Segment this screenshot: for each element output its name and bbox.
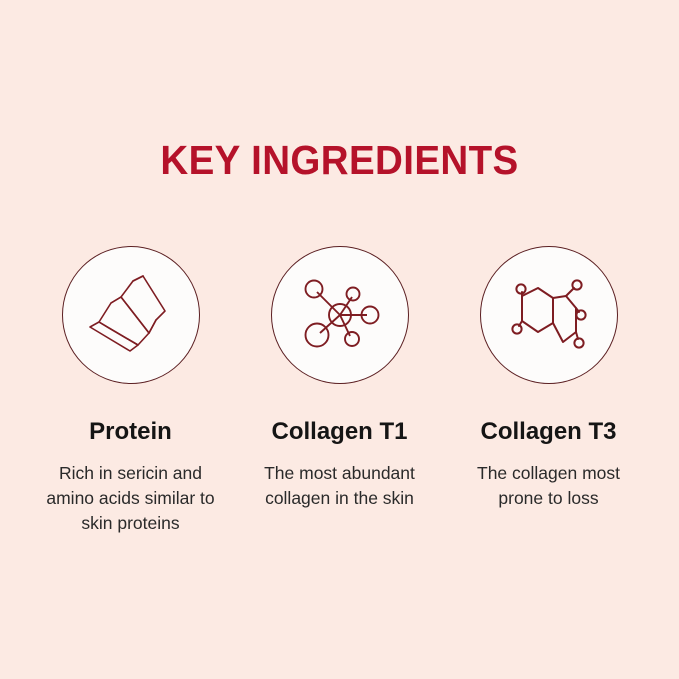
ingredient-card-collagen-t3: Collagen T3 The collagen most prone to l… — [444, 246, 653, 511]
ingredient-description: The collagen most prone to loss — [449, 461, 649, 511]
molecule-cluster-icon — [298, 273, 382, 357]
ingredient-card-protein: Protein Rich in sericin and amino acids … — [26, 246, 235, 536]
ingredient-card-collagen-t1: Collagen T1 The most abundant collagen i… — [235, 246, 444, 511]
description-line: collagen in the skin — [240, 486, 440, 511]
description-line: skin proteins — [31, 511, 231, 536]
ingredient-columns: Protein Rich in sericin and amino acids … — [0, 246, 679, 536]
ingredient-description: Rich in sericin and amino acids similar … — [31, 461, 231, 536]
page-title: KEY INGREDIENTS — [20, 136, 658, 184]
silk-ribbon-protein-icon — [86, 270, 176, 360]
icon-circle-collagen-t3 — [480, 246, 618, 384]
icon-circle-protein — [62, 246, 200, 384]
description-line: amino acids similar to — [31, 486, 231, 511]
ingredient-description: The most abundant collagen in the skin — [240, 461, 440, 511]
fused-hexagon-molecule-icon — [508, 274, 590, 356]
ingredient-heading: Collagen T1 — [271, 418, 407, 446]
ingredient-heading: Collagen T3 — [480, 418, 616, 446]
description-line: The most abundant — [240, 461, 440, 486]
ingredient-heading: Protein — [89, 418, 172, 446]
description-line: Rich in sericin and — [31, 461, 231, 486]
description-line: The collagen most — [449, 461, 649, 486]
icon-circle-collagen-t1 — [271, 246, 409, 384]
key-ingredients-infographic: KEY INGREDIENTS — [0, 0, 679, 679]
description-line: prone to loss — [449, 486, 649, 511]
